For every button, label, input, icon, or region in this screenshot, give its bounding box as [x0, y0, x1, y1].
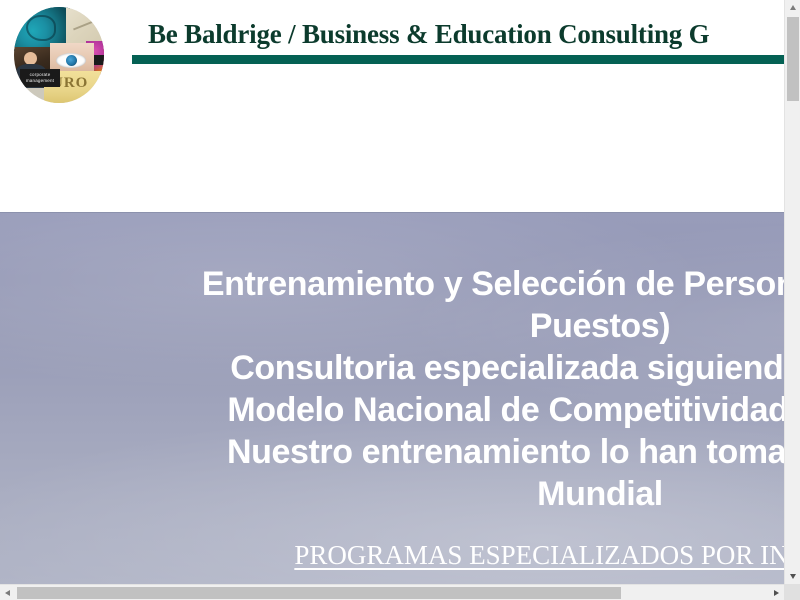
hero-banner: Entrenamiento y Selección de Personal (T…	[0, 212, 784, 584]
hero-headline-line-3: Consultoria especializada siguiendo la m…	[0, 347, 784, 389]
page-title: Be Baldrige / Business & Education Consu…	[148, 17, 709, 51]
logo-caption-plate: corporate management	[20, 69, 60, 87]
hero-headline-line-5: Nuestro entrenamiento lo han tomado empr…	[0, 431, 784, 473]
horizontal-scrollbar[interactable]	[0, 584, 784, 600]
site-logo-icon[interactable]: corporate management	[14, 7, 104, 103]
scroll-right-arrow-icon[interactable]	[774, 590, 779, 596]
vertical-scrollbar[interactable]	[784, 0, 800, 584]
scrollbar-corner	[784, 584, 800, 600]
hero-headline-line-4: Modelo Nacional de Competitividad de los…	[0, 389, 784, 431]
hero-content: Entrenamiento y Selección de Personal (T…	[0, 213, 784, 571]
title-divider	[132, 55, 784, 64]
logo-caption-text: corporate management	[20, 69, 60, 83]
hero-programs-link[interactable]: PROGRAMAS ESPECIALIZADOS POR INDUSTRIA	[294, 539, 784, 571]
hero-headline-line-6: Mundial	[0, 473, 784, 515]
scroll-up-arrow-icon[interactable]	[790, 5, 796, 10]
scroll-left-arrow-icon[interactable]	[5, 590, 10, 596]
vertical-scrollbar-thumb[interactable]	[787, 17, 799, 101]
scroll-down-arrow-icon[interactable]	[790, 574, 796, 579]
hero-headline-line-1: Entrenamiento y Selección de Personal (T…	[0, 263, 784, 305]
browser-viewport: corporate management Be Baldrige / Busin…	[0, 0, 800, 600]
page-content: corporate management Be Baldrige / Busin…	[0, 0, 784, 584]
hero-headline-line-2: Puestos)	[0, 305, 784, 347]
site-header: corporate management Be Baldrige / Busin…	[0, 0, 784, 212]
horizontal-scrollbar-thumb[interactable]	[17, 587, 621, 599]
